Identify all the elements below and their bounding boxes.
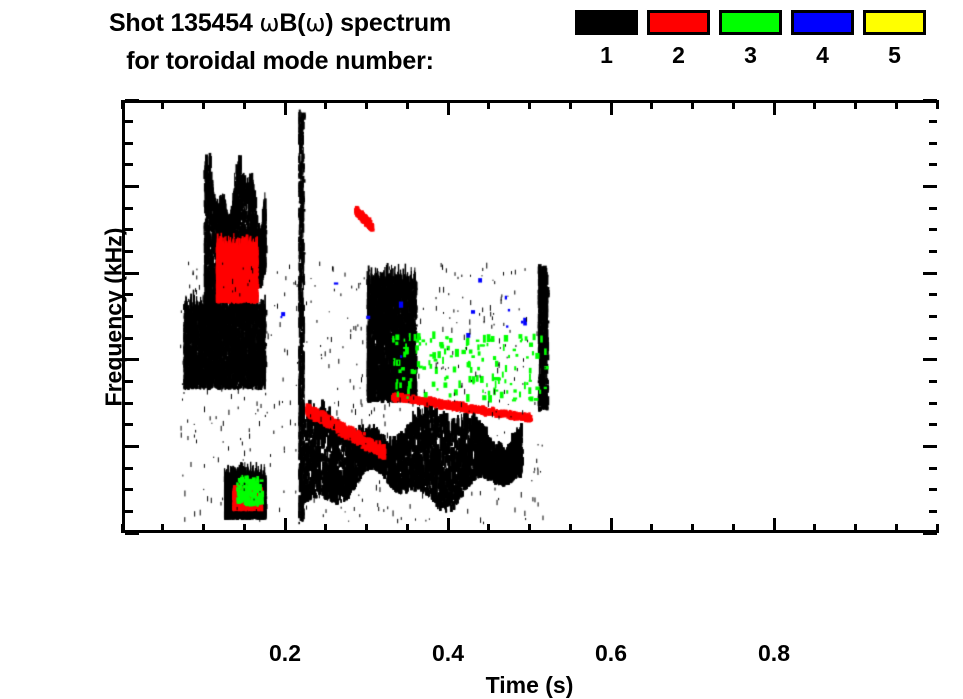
legend-swatch-3 bbox=[719, 10, 782, 35]
x-tick-minor bbox=[936, 524, 939, 533]
y-tick-minor-right bbox=[929, 423, 937, 426]
plot-area: 020406080100 0.20.40.60.8 Frequency (kHz… bbox=[122, 100, 937, 533]
x-tick-minor-top bbox=[936, 100, 939, 109]
figure-title: Shot 135454 ωB(ω) spectrum for toroidal … bbox=[0, 4, 560, 80]
x-tick-major-top bbox=[610, 100, 613, 115]
x-tick-minor bbox=[202, 524, 205, 533]
x-tick-minor bbox=[732, 524, 735, 533]
y-tick-minor bbox=[125, 467, 133, 470]
x-tick-minor-top bbox=[202, 100, 205, 109]
x-tick-minor-top bbox=[854, 100, 857, 109]
y-tick-minor-right bbox=[929, 510, 937, 513]
x-tick-minor-top bbox=[732, 100, 735, 109]
legend-swatch-2 bbox=[647, 10, 710, 35]
legend-label-3: 3 bbox=[719, 42, 782, 69]
legend: 1 2 3 4 5 bbox=[575, 10, 955, 69]
legend-swatch-1 bbox=[575, 10, 638, 35]
omega-symbol-2: ω bbox=[305, 9, 325, 37]
y-tick-major bbox=[125, 532, 139, 535]
x-tick-minor bbox=[406, 524, 409, 533]
y-tick-minor bbox=[125, 163, 133, 166]
y-tick-major bbox=[125, 185, 139, 188]
y-tick-minor-right bbox=[929, 163, 937, 166]
x-tick-major-top bbox=[284, 100, 287, 115]
y-tick-minor-right bbox=[929, 120, 937, 123]
x-tick-minor-top bbox=[406, 100, 409, 109]
x-tick-minor bbox=[161, 524, 164, 533]
x-tick-minor-top bbox=[569, 100, 572, 109]
figure-title-line2: for toroidal mode number: bbox=[0, 42, 560, 80]
figure-title-line1: Shot 135454 ωB(ω) spectrum bbox=[0, 4, 560, 42]
y-tick-major-right bbox=[923, 358, 937, 361]
x-tick-major-top bbox=[773, 100, 776, 115]
x-tick-label: 0.2 bbox=[269, 640, 301, 667]
x-tick-minor bbox=[650, 524, 653, 533]
x-tick-major bbox=[610, 518, 613, 533]
x-tick-label: 0.6 bbox=[595, 640, 627, 667]
x-tick-minor bbox=[243, 524, 246, 533]
x-tick-minor-top bbox=[650, 100, 653, 109]
y-tick-minor bbox=[125, 423, 133, 426]
x-axis-title: Time (s) bbox=[486, 672, 574, 699]
x-tick-major bbox=[284, 518, 287, 533]
x-tick-minor bbox=[528, 524, 531, 533]
x-tick-minor bbox=[854, 524, 857, 533]
x-tick-minor-top bbox=[161, 100, 164, 109]
y-tick-major-right bbox=[923, 445, 937, 448]
legend-label-2: 2 bbox=[647, 42, 710, 69]
x-tick-minor bbox=[487, 524, 490, 533]
y-tick-major-right bbox=[923, 272, 937, 275]
y-tick-minor-right bbox=[929, 293, 937, 296]
spectrogram-canvas bbox=[122, 100, 937, 533]
y-tick-minor-right bbox=[929, 337, 937, 340]
title-spectrum-text: ) spectrum bbox=[325, 9, 451, 37]
y-tick-minor-right bbox=[929, 315, 937, 318]
legend-label-4: 4 bbox=[791, 42, 854, 69]
title-b-text: B( bbox=[279, 9, 305, 37]
spectrogram-figure: Shot 135454 ωB(ω) spectrum for toroidal … bbox=[0, 0, 963, 615]
x-tick-major-top bbox=[447, 100, 450, 115]
x-tick-minor bbox=[895, 524, 898, 533]
legend-swatches bbox=[575, 10, 955, 35]
x-tick-major bbox=[447, 518, 450, 533]
x-tick-major bbox=[773, 518, 776, 533]
y-tick-minor bbox=[125, 120, 133, 123]
legend-label-5: 5 bbox=[863, 42, 926, 69]
x-tick-minor-top bbox=[324, 100, 327, 109]
x-tick-minor-top bbox=[895, 100, 898, 109]
x-tick-minor bbox=[121, 524, 124, 533]
x-tick-label: 0.4 bbox=[432, 640, 464, 667]
y-tick-minor-right bbox=[929, 142, 937, 145]
y-tick-minor bbox=[125, 488, 133, 491]
y-tick-major bbox=[125, 99, 139, 102]
omega-symbol-1: ω bbox=[259, 9, 279, 37]
y-axis-title: Frequency (kHz) bbox=[101, 227, 128, 406]
y-tick-minor-right bbox=[929, 380, 937, 383]
x-tick-minor bbox=[324, 524, 327, 533]
x-tick-minor-top bbox=[691, 100, 694, 109]
x-tick-minor-top bbox=[243, 100, 246, 109]
x-tick-minor-top bbox=[365, 100, 368, 109]
x-tick-minor-top bbox=[813, 100, 816, 109]
y-tick-minor-right bbox=[929, 488, 937, 491]
x-tick-minor-top bbox=[528, 100, 531, 109]
y-tick-minor-right bbox=[929, 467, 937, 470]
y-tick-minor-right bbox=[929, 207, 937, 210]
y-tick-minor bbox=[125, 207, 133, 210]
legend-swatch-5 bbox=[863, 10, 926, 35]
y-tick-minor-right bbox=[929, 228, 937, 231]
legend-labels: 1 2 3 4 5 bbox=[575, 42, 955, 69]
y-tick-major bbox=[125, 445, 139, 448]
legend-swatch-4 bbox=[791, 10, 854, 35]
y-tick-major-right bbox=[923, 185, 937, 188]
y-tick-minor-right bbox=[929, 250, 937, 253]
x-tick-label: 0.8 bbox=[758, 640, 790, 667]
x-tick-minor-top bbox=[487, 100, 490, 109]
x-tick-minor-top bbox=[121, 100, 124, 109]
y-tick-minor bbox=[125, 142, 133, 145]
x-tick-minor bbox=[691, 524, 694, 533]
x-tick-minor bbox=[569, 524, 572, 533]
x-tick-minor bbox=[365, 524, 368, 533]
y-tick-minor-right bbox=[929, 402, 937, 405]
title-shot-text: Shot 135454 bbox=[109, 9, 259, 37]
x-tick-minor bbox=[813, 524, 816, 533]
legend-label-1: 1 bbox=[575, 42, 638, 69]
y-tick-minor bbox=[125, 510, 133, 513]
